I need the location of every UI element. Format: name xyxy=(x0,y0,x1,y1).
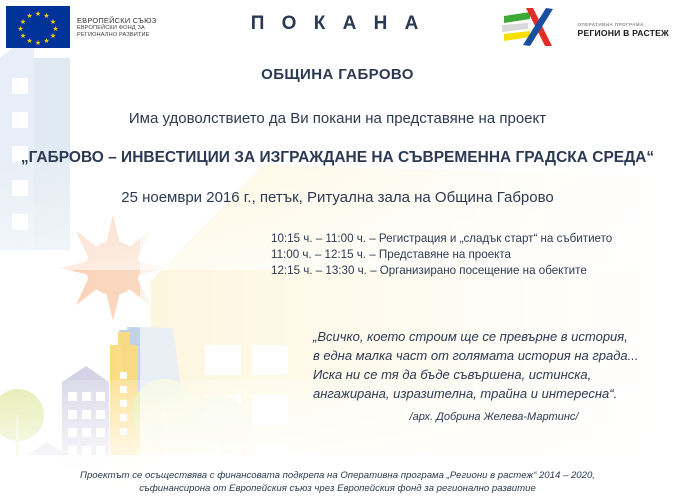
eu-flag: ★ ★ ★ ★ ★ ★ ★ ★ ★ ★ ★ ★ xyxy=(6,6,70,48)
eu-star: ★ xyxy=(35,11,42,18)
eu-logo: ★ ★ ★ ★ ★ ★ ★ ★ ★ ★ ★ ★ ЕВРОПЕЙСКИ СЪЮЗ … xyxy=(6,6,157,48)
program-logo-line2: РЕГИОНИ В РАСТЕЖ xyxy=(578,28,669,38)
quote-line: в една малка част от голямата история на… xyxy=(313,346,675,365)
program-logo-text: ОПЕРАТИВНА ПРОГРАМА РЕГИОНИ В РАСТЕЖ xyxy=(578,16,669,38)
program-logo: ОПЕРАТИВНА ПРОГРАМА РЕГИОНИ В РАСТЕЖ xyxy=(500,4,669,50)
header-logos: ★ ★ ★ ★ ★ ★ ★ ★ ★ ★ ★ ★ ЕВРОПЕЙСКИ СЪЮЗ … xyxy=(0,0,675,56)
organization-name: ОБЩИНА ГАБРОВО xyxy=(0,66,675,83)
eu-star: ★ xyxy=(26,38,33,45)
regions-in-growth-x-mark xyxy=(500,4,574,50)
eu-star: ★ xyxy=(43,38,50,45)
eu-logo-text: ЕВРОПЕЙСКИ СЪЮЗ ЕВРОПЕЙСКИ ФОНД ЗА РЕГИО… xyxy=(77,16,157,39)
quote-line: Иска ни се тя да бъде съвършена, истинск… xyxy=(313,365,675,384)
eu-star: ★ xyxy=(26,13,33,20)
invitation-content: П О К А Н А ОБЩИНА ГАБРОВО Има удоволств… xyxy=(0,0,675,500)
eu-star: ★ xyxy=(20,19,27,26)
schedule-item: 12:15 ч. – 13:30 ч. – Организирано посещ… xyxy=(271,263,671,279)
eu-star: ★ xyxy=(17,26,24,33)
eu-star: ★ xyxy=(50,19,57,26)
quotation-block: „Всичко, което строим ще се превърне в и… xyxy=(313,327,675,403)
quote-line: „Всичко, което строим ще се превърне в и… xyxy=(313,327,675,346)
invitation-page: ★ ★ ★ ★ ★ ★ ★ ★ ★ ★ ★ ★ ЕВРОПЕЙСКИ СЪЮЗ … xyxy=(0,0,675,500)
schedule-list: 10:15 ч. – 11:00 ч. – Регистрация и „сла… xyxy=(271,231,671,279)
footer-disclaimer: Проектът се осъществява с финансовата по… xyxy=(0,469,675,495)
eu-star: ★ xyxy=(35,40,42,47)
quote-author: /арх. Добрина Желева-Мартинс/ xyxy=(313,411,675,423)
eu-star: ★ xyxy=(50,33,57,40)
footer-line1: Проектът се осъществява с финансовата по… xyxy=(0,469,675,482)
eu-logo-line1: ЕВРОПЕЙСКИ СЪЮЗ xyxy=(77,16,157,25)
date-venue-line: 25 ноември 2016 г., петък, Ритуална зала… xyxy=(0,189,675,206)
eu-logo-line2: ЕВРОПЕЙСКИ ФОНД ЗА xyxy=(77,25,157,32)
footer-line2: съфинансирона от Европейския съюз чрез Е… xyxy=(0,482,675,495)
invitation-line: Има удоволствието да Ви покани на предст… xyxy=(0,110,675,127)
quote-line: ангажирана, изразителна, трайна и интере… xyxy=(313,384,675,403)
project-title: „ГАБРОВО – ИНВЕСТИЦИИ ЗА ИЗГРАЖДАНЕ НА С… xyxy=(0,149,675,167)
eu-star: ★ xyxy=(52,26,59,33)
schedule-item: 10:15 ч. – 11:00 ч. – Регистрация и „сла… xyxy=(271,231,671,247)
schedule-item: 11:00 ч. – 12:15 ч. – Представяне на про… xyxy=(271,247,671,263)
eu-logo-line3: РЕГИОНАЛНО РАЗВИТИЕ xyxy=(77,32,157,39)
